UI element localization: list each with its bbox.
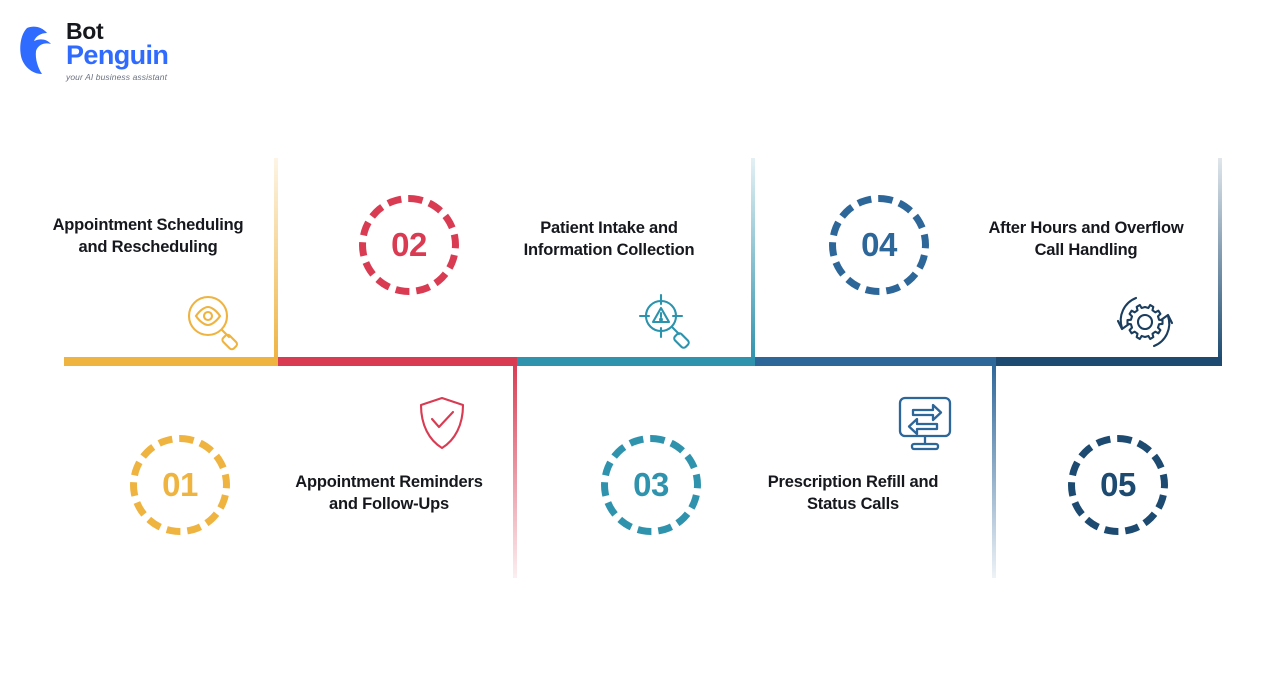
penguin-logo-icon [18, 24, 64, 78]
step-title-02-line2: and Follow-Ups [268, 494, 510, 516]
step-number-01: 01 [162, 466, 198, 504]
connector-01-up [274, 158, 278, 361]
step-title-04-line1: Prescription Refill and [740, 472, 966, 494]
segment-01 [64, 357, 278, 366]
step-title-01: Appointment Scheduling and Rescheduling [20, 215, 276, 259]
gear-refresh-icon [1114, 291, 1176, 353]
connector-03-up [751, 158, 755, 361]
step-title-02-line1: Appointment Reminders [268, 472, 510, 494]
step-badge-02[interactable]: 02 [359, 195, 459, 295]
shield-check-icon [411, 392, 473, 454]
step-title-02: Appointment Reminders and Follow-Ups [268, 472, 510, 516]
infographic-canvas: Bot Penguin your AI business assistant A… [0, 0, 1288, 686]
step-number-02: 02 [391, 226, 427, 264]
step-title-05-line1: After Hours and Overflow [960, 218, 1212, 240]
step-badge-05[interactable]: 05 [1068, 435, 1168, 535]
brand-name-part2: Penguin [66, 42, 168, 69]
connector-02-down [513, 362, 517, 578]
segment-04 [755, 357, 996, 366]
brand-logo: Bot Penguin your AI business assistant [18, 20, 248, 90]
step-title-03: Patient Intake and Information Collectio… [492, 218, 726, 262]
step-title-01-line2: and Rescheduling [20, 237, 276, 259]
step-title-03-line1: Patient Intake and [492, 218, 726, 240]
step-badge-03[interactable]: 03 [601, 435, 701, 535]
segment-02 [278, 357, 517, 366]
step-title-04-line2: Status Calls [740, 494, 966, 516]
step-badge-01[interactable]: 01 [130, 435, 230, 535]
step-title-01-line1: Appointment Scheduling [20, 215, 276, 237]
step-badge-04[interactable]: 04 [829, 195, 929, 295]
step-number-04: 04 [861, 226, 897, 264]
segment-05 [996, 357, 1222, 366]
step-number-05: 05 [1100, 466, 1136, 504]
connector-04-down [992, 362, 996, 578]
connector-05-up [1218, 158, 1222, 361]
step-title-05-line2: Call Handling [960, 240, 1212, 262]
step-title-05: After Hours and Overflow Call Handling [960, 218, 1212, 262]
step-title-03-line2: Information Collection [492, 240, 726, 262]
brand-tagline: your AI business assistant [66, 72, 167, 82]
target-warning-magnifier-icon [636, 291, 698, 353]
eye-magnifier-icon [183, 291, 245, 353]
brand-name: Bot Penguin [66, 20, 168, 69]
step-title-04: Prescription Refill and Status Calls [740, 472, 966, 516]
segment-03 [517, 357, 755, 366]
monitor-exchange-icon [894, 393, 956, 455]
step-number-03: 03 [633, 466, 669, 504]
